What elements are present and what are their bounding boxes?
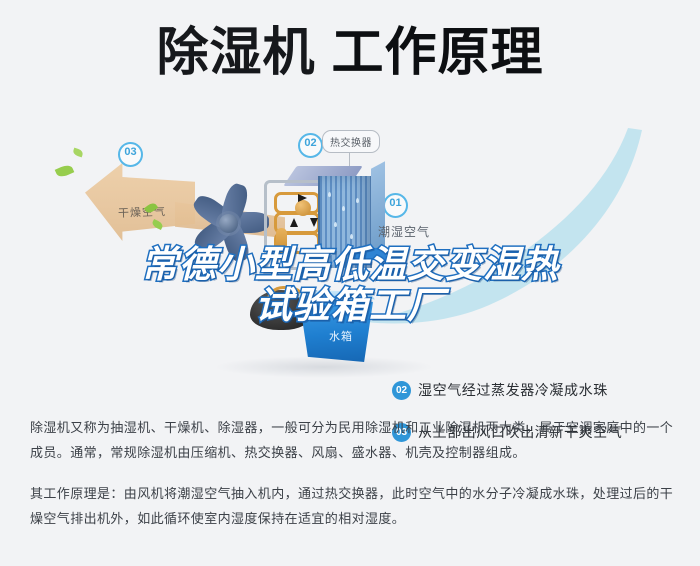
refrigerant-cylinder (276, 228, 287, 256)
legend-badge: 02 (392, 381, 411, 400)
leaf-icon (55, 163, 75, 179)
paragraph-2: 其工作原理是：由风机将潮湿空气抽入机内，通过热交换器，此时空气中的水分子冷凝成水… (30, 481, 675, 531)
stage-badge-02: 02 (298, 133, 323, 158)
water-tank-icon: 水箱 (295, 288, 379, 364)
dry-air-arrow-icon (85, 163, 195, 241)
body-copy: 除湿机又称为抽湿机、干燥机、除湿器，一般可分为民用除湿机和工业除湿机两大类，属于… (30, 415, 675, 547)
refrigerant-valve (295, 200, 311, 216)
humid-air-label: 潮湿空气 (378, 223, 430, 240)
flow-arrow-right-icon (298, 194, 307, 202)
dehumidifier-diagram: 干燥空气 03 02 01 热交换器 (0, 118, 700, 408)
leaf-icon (72, 148, 84, 158)
page-title-part-1: 除湿机 (156, 22, 315, 84)
flow-arrow-up-icon (290, 218, 298, 227)
page-title-part-2: 工作原理 (332, 22, 544, 84)
page-title: 除湿机工作原理 (0, 22, 700, 84)
water-tank-label: 水箱 (329, 328, 353, 344)
legend-text: 湿空气经过蒸发器冷凝成水珠 (418, 380, 608, 400)
dry-air-label: 干燥空气 (118, 203, 167, 221)
legend-item: 02 湿空气经过蒸发器冷凝成水珠 (392, 380, 692, 400)
heat-exchanger-callout: 热交换器 (322, 130, 380, 153)
stage-badge-03: 03 (118, 142, 143, 167)
infographic-page: 除湿机工作原理 干燥空气 03 02 01 热交换器 (0, 0, 700, 566)
paragraph-1: 除湿机又称为抽湿机、干燥机、除湿器，一般可分为民用除湿机和工业除湿机两大类，属于… (30, 415, 675, 465)
flow-arrow-down-icon (310, 218, 318, 227)
